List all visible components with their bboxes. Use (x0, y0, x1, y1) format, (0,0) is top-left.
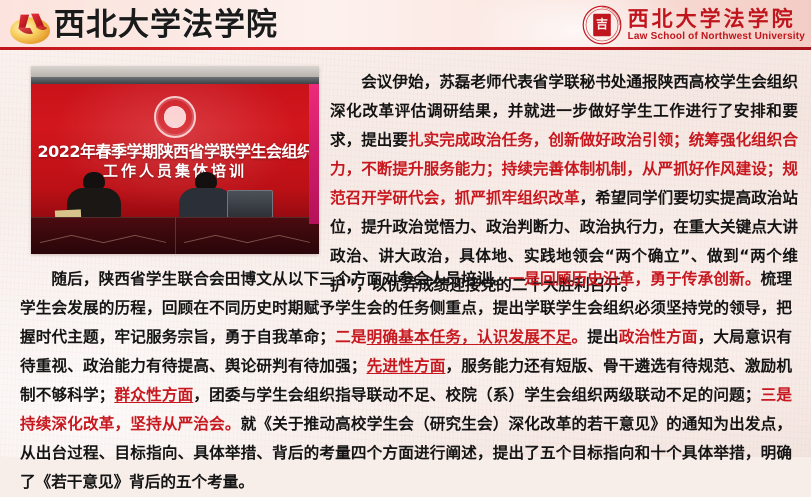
highlighted-text-run: 明确基本任务，认识发展不足 (367, 328, 572, 346)
text-run: ，团委与学生会组织指导联动不足、校院（系）学生会组织两级联动不足的问题； (193, 386, 760, 404)
page-header: 西北大学法学院 吉 西北大学法学院 Law School of Northwes… (0, 0, 811, 50)
logo-name-en: Law School of Northwest University (628, 32, 805, 42)
logo-name-cn: 西北大学法学院 (628, 8, 805, 29)
highlighted-text-run: 一是回顾历史沿革，勇于传承创新。 (508, 270, 760, 288)
training-meeting-photo: 2022年春季学期陕西省学联学生会组织 工作人员集体培训 (31, 66, 319, 254)
photo-laptop (227, 190, 273, 218)
photo-edge-strip (309, 84, 319, 224)
page-title: 西北大学法学院 (54, 3, 278, 47)
conference-emblem-icon (154, 96, 196, 138)
photo-ceiling (31, 66, 319, 77)
paragraph-two: 随后，陕西省学生联合会田博文从以下三个方面对参会人员培训。一是回顾历史沿革，勇于… (20, 265, 792, 497)
svg-text:吉: 吉 (596, 16, 608, 31)
photo-banner-line1: 2022年春季学期陕西省学联学生会组织 (31, 138, 319, 162)
photo-desk-pattern-left (40, 233, 167, 245)
university-seal-icon: 吉 (582, 5, 622, 45)
text-run: 提出 (587, 328, 619, 346)
highlighted-text-run: 二是 (335, 328, 367, 346)
photo-screen-frame (31, 77, 319, 84)
photo-person-right (179, 172, 233, 218)
highlighted-text-run: 群众性方面 (114, 386, 193, 404)
hammer-sickle-emblem-icon (8, 7, 56, 45)
institution-logo: 吉 西北大学法学院 Law School of Northwest Univer… (582, 3, 805, 47)
photo-desk-pattern-right (184, 233, 311, 245)
highlighted-text-run: 先进性方面 (367, 357, 446, 375)
slide-page: 西北大学法学院 吉 西北大学法学院 Law School of Northwes… (0, 0, 811, 457)
highlighted-text-run: 政治性方面 (619, 328, 698, 346)
text-run: 随后，陕西省学生联合会田博文从以下三个方面对参会人员培训。 (51, 270, 508, 288)
highlighted-text-run: 。 (572, 328, 588, 346)
